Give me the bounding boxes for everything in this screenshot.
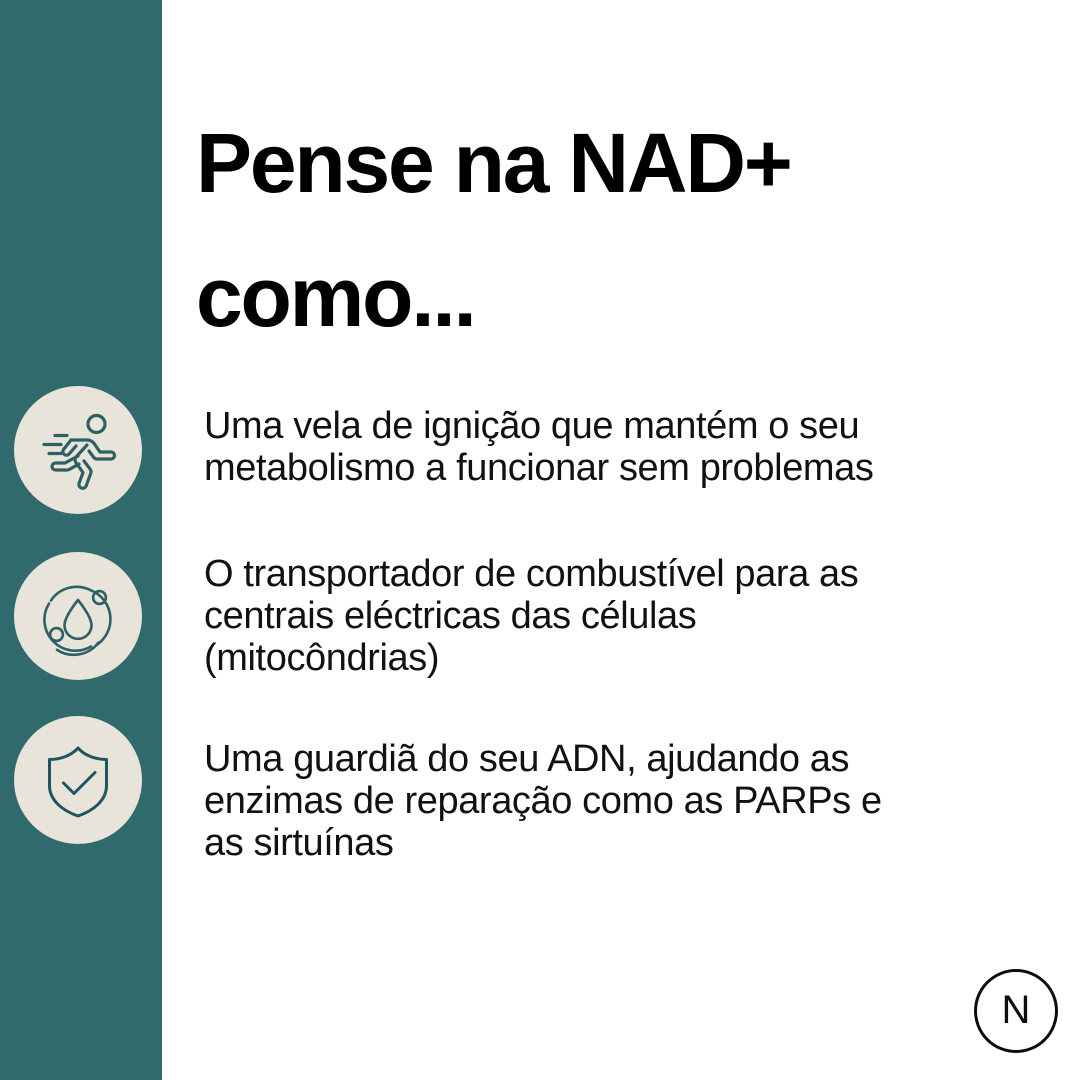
sidebar-panel	[0, 0, 162, 1080]
benefit-text-2: O transportador de combustível para as c…	[204, 553, 1050, 679]
benefit-text-1: Uma vela de ignição que mantém o seu met…	[204, 405, 1050, 489]
sidebar-icon-badge-1	[14, 386, 142, 514]
running-person-icon	[35, 407, 121, 493]
benefit-text-3: Uma guardiã do seu ADN, ajudando as enzi…	[204, 738, 1050, 864]
slide-canvas: Pense na NAD+ como... Uma vela de igniçã…	[0, 0, 1080, 1080]
fuel-droplet-orbit-icon	[35, 573, 121, 659]
sidebar-icon-badge-2	[14, 552, 142, 680]
shield-check-icon	[35, 737, 121, 823]
brand-logo: N	[974, 969, 1058, 1053]
page-title: Pense na NAD+ como...	[196, 96, 1056, 364]
logo-letter: N	[974, 969, 1058, 1053]
sidebar-icon-badge-3	[14, 716, 142, 844]
